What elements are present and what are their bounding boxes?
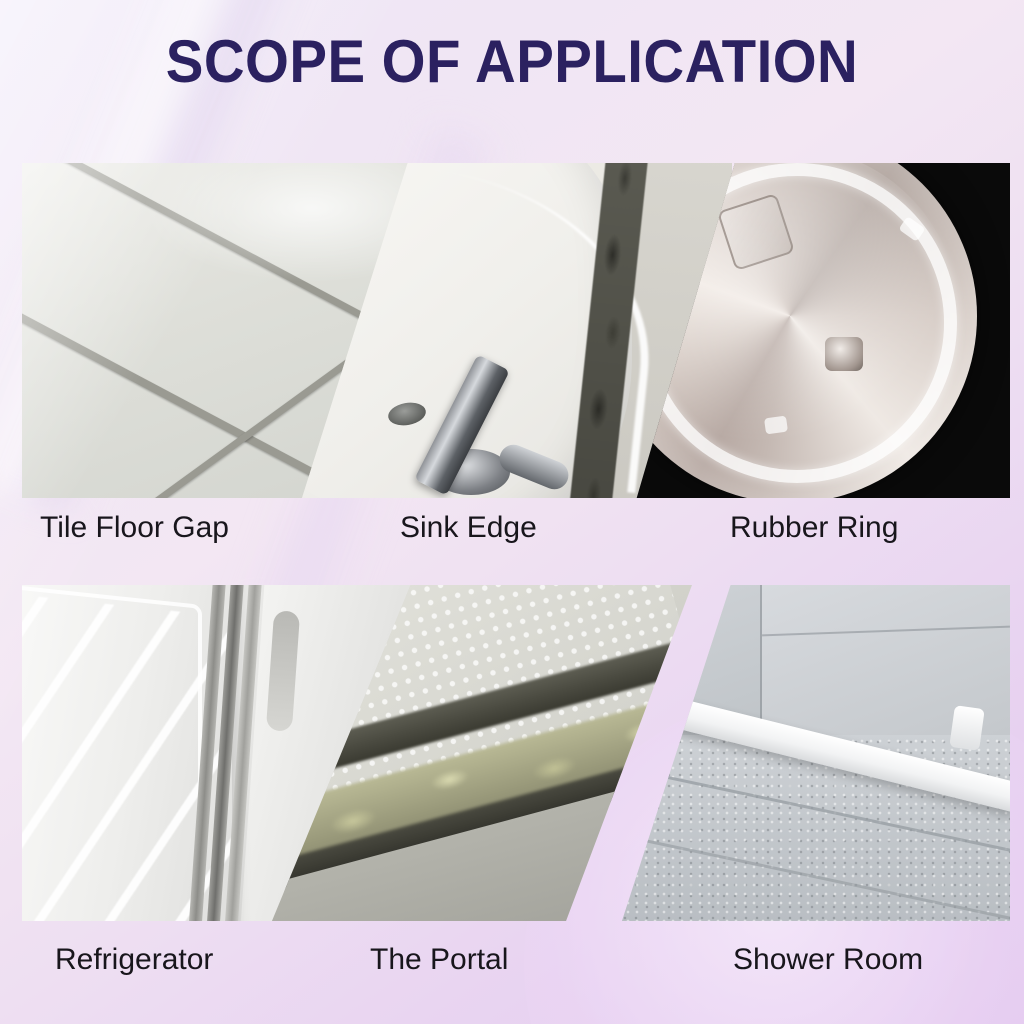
photo-row-top [22, 163, 1010, 498]
label-row-top: Tile Floor Gap Sink Edge Rubber Ring [0, 508, 1024, 568]
caption-tile-floor-gap: Tile Floor Gap [40, 508, 229, 548]
gasket-tab [764, 416, 788, 435]
label-row-bottom: Refrigerator The Portal Shower Room [0, 940, 1024, 1000]
tile-highlight [142, 163, 414, 283]
caption-rubber-ring: Rubber Ring [730, 508, 898, 548]
photo-row-bottom [22, 585, 1010, 921]
water-dam-end-cap [949, 705, 985, 751]
caption-shower-room: Shower Room [733, 940, 923, 980]
page-title: SCOPE OF APPLICATION [31, 32, 994, 92]
caption-refrigerator: Refrigerator [55, 940, 213, 980]
caption-sink-edge: Sink Edge [400, 508, 537, 548]
photo-panel-shower-room [622, 585, 1010, 921]
door-bevel [22, 585, 202, 921]
caption-the-portal: The Portal [370, 940, 508, 980]
photo-shower-room [622, 585, 1010, 921]
poster-root: SCOPE OF APPLICATION [0, 0, 1024, 1024]
